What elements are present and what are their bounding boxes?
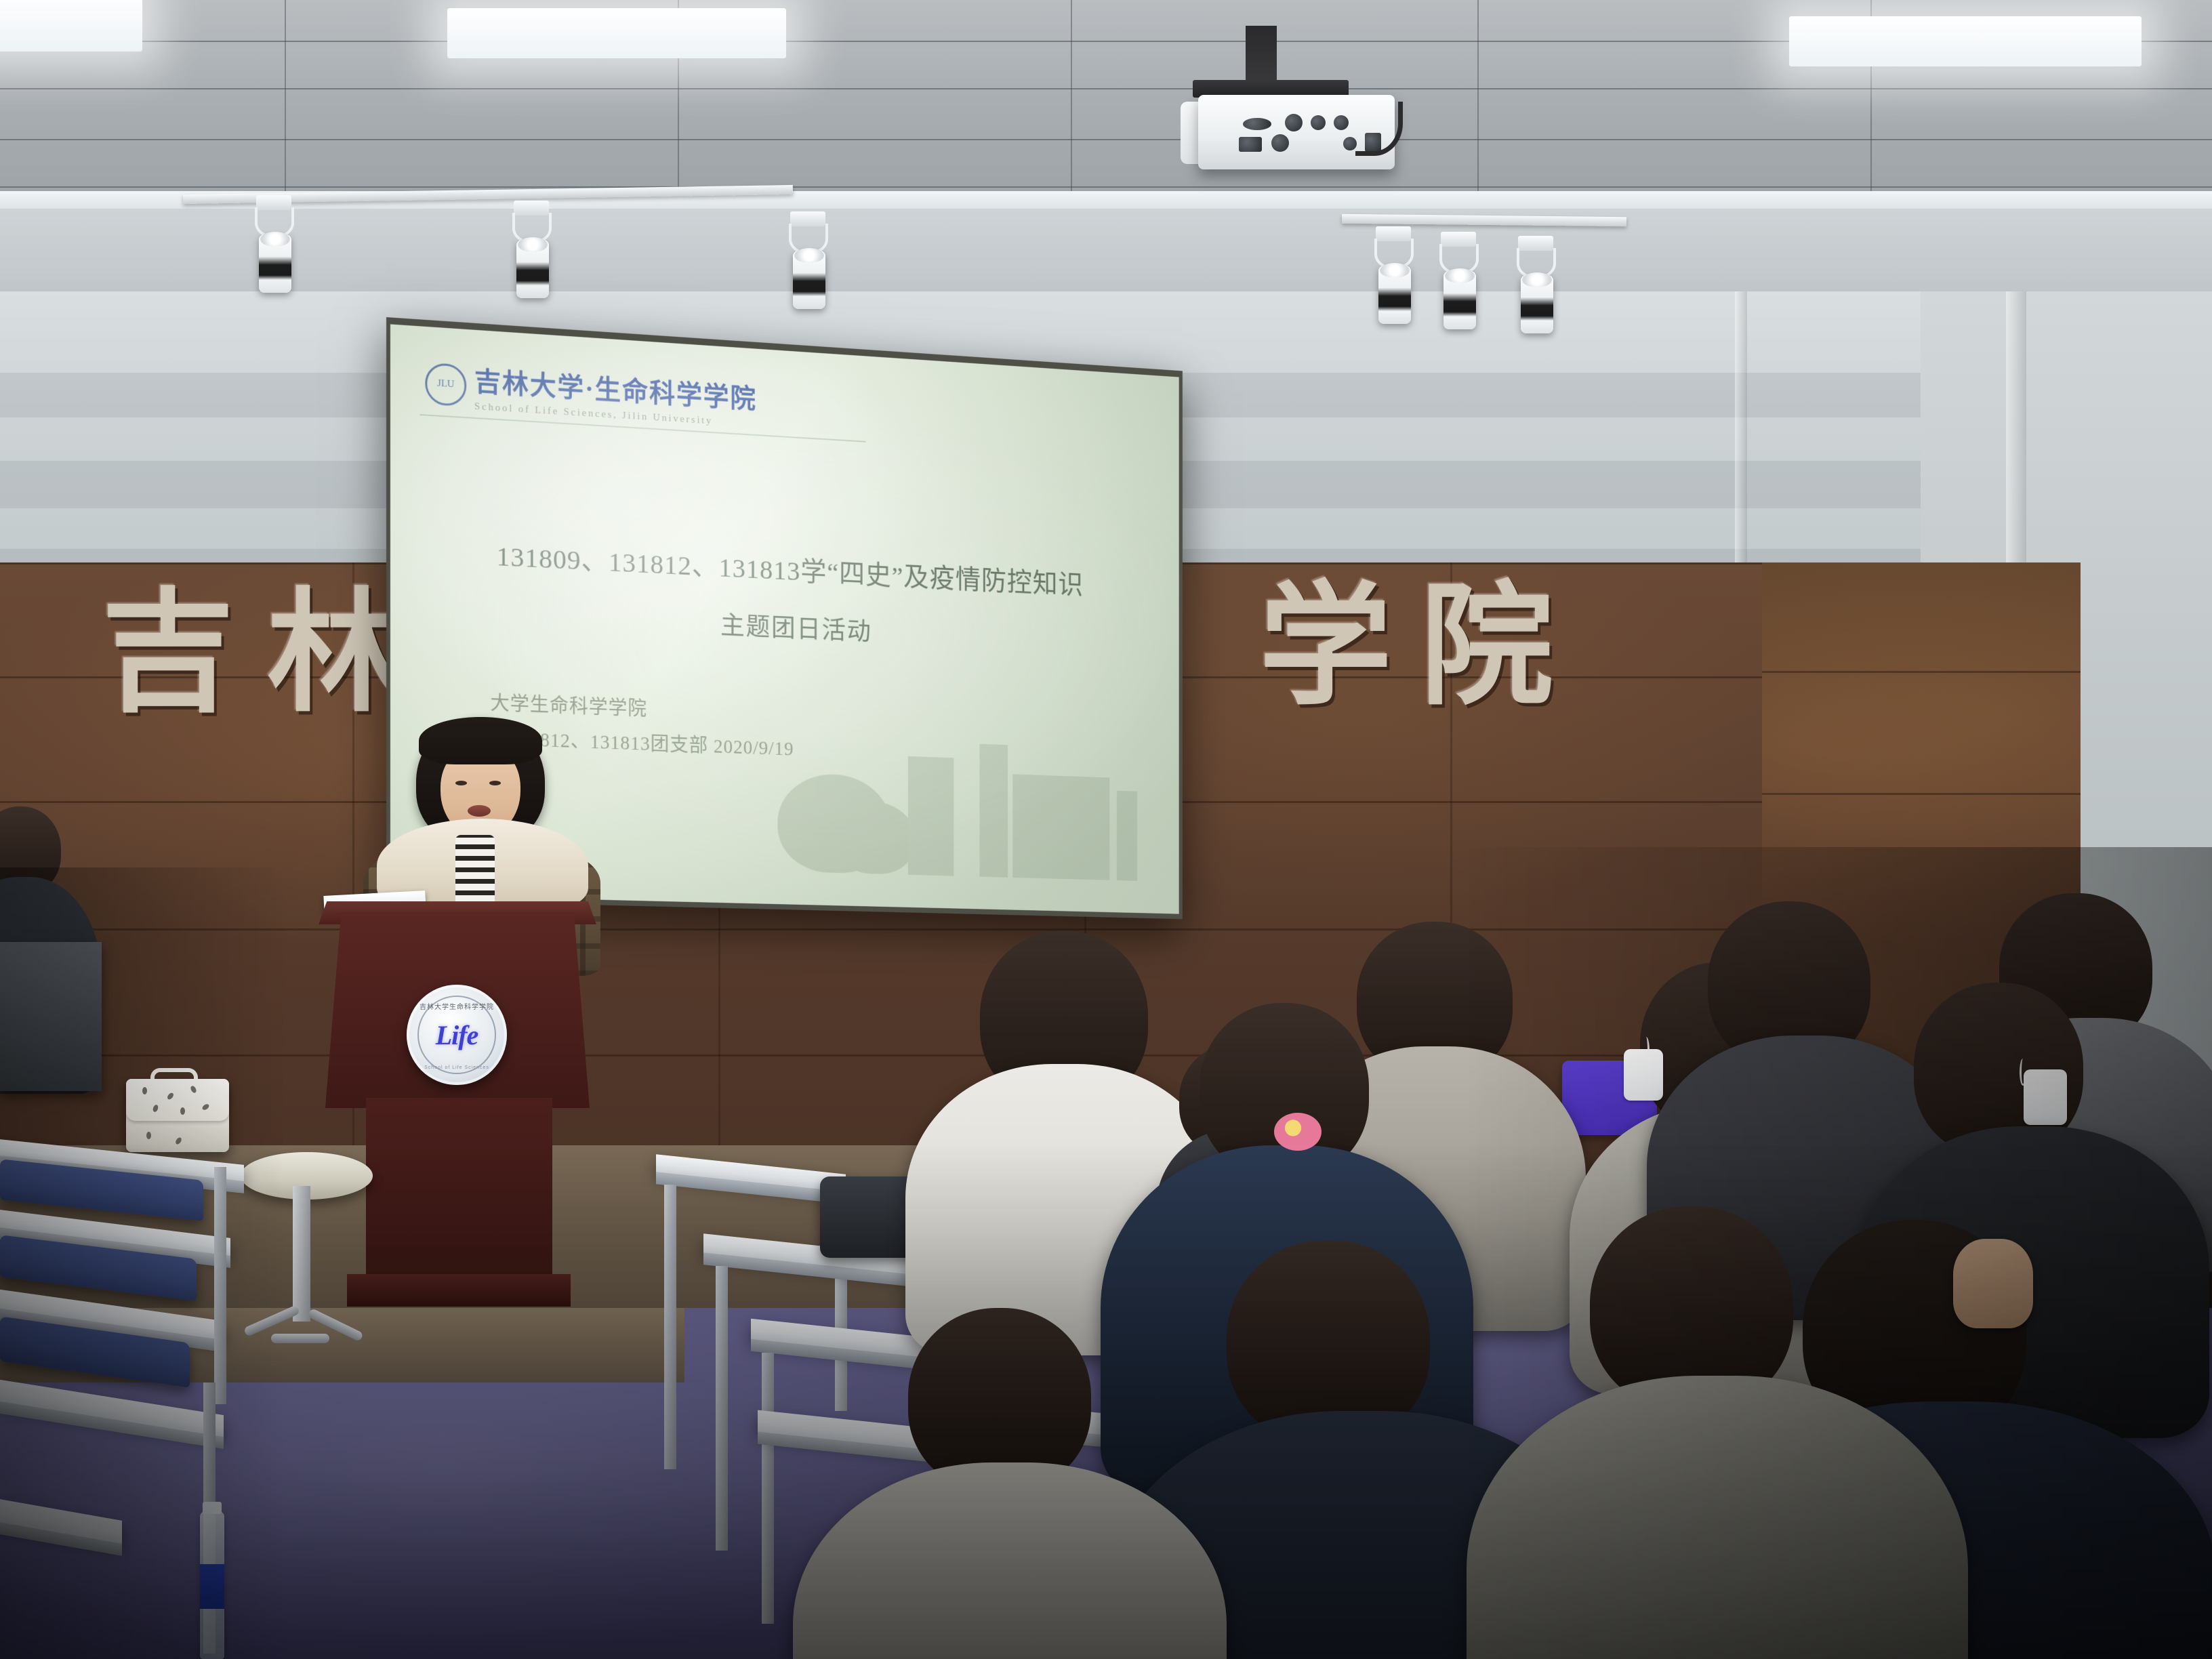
- lecture-hall-photo: 吉林 学院 JLU 吉林大学·生命科学学院 School of Life Sci…: [0, 0, 2212, 1659]
- ceiling-light-panel: [0, 0, 142, 52]
- water-bottle: [200, 1511, 224, 1659]
- desk-leg: [664, 1185, 676, 1469]
- swivel-stool-post: [293, 1186, 310, 1322]
- podium-emblem: 吉林大学生命科学学院 Life School of Life Sciences: [407, 985, 507, 1085]
- desk-leg: [214, 1167, 226, 1404]
- emblem-en-text: School of Life Sciences: [419, 1065, 495, 1070]
- emblem-cn-text: 吉林大学生命科学学院: [419, 1001, 495, 1011]
- face-mask: [2024, 1069, 2067, 1125]
- swivel-stool-foot: [271, 1334, 329, 1343]
- hair-accessory: [1274, 1113, 1322, 1151]
- wall-sign-right: 学院: [1259, 581, 1582, 714]
- emblem-life-script: Life: [436, 1019, 478, 1051]
- campus-watermark: [774, 720, 1155, 882]
- university-seal-icon: JLU: [425, 362, 466, 407]
- slide-logo: JLU 吉林大学·生命科学学院 School of Life Sciences,…: [425, 356, 757, 430]
- desk-leg: [716, 1266, 728, 1551]
- ceiling-light-panel: [447, 8, 786, 58]
- left-equipment-box: [0, 942, 102, 1091]
- handbag: [126, 1079, 229, 1152]
- wall-sign-left: 吉林: [102, 588, 432, 721]
- desk-leg: [762, 1353, 774, 1624]
- raised-hand: [1953, 1239, 2033, 1328]
- slide-subtitle-line1: 大学生命科学学院: [490, 687, 647, 721]
- seal-text: JLU: [437, 378, 454, 391]
- ceiling-light-panel: [1789, 16, 2142, 66]
